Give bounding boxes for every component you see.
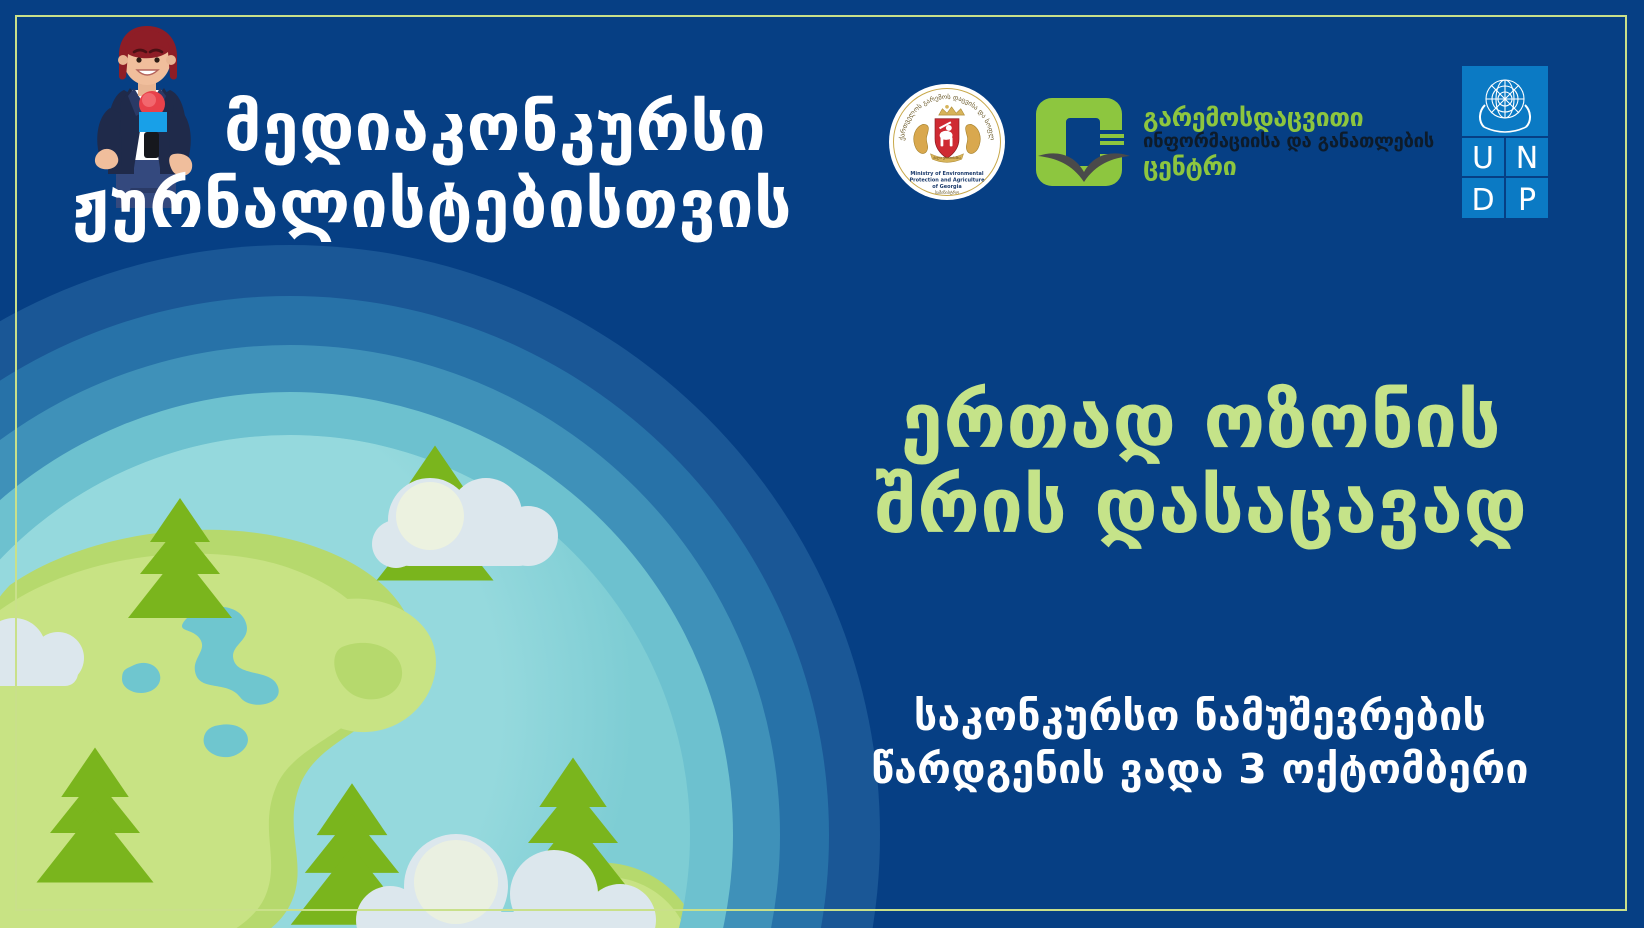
cloud-icon — [368, 474, 568, 570]
deadline-block: საკონკურსო ნამუშევრების წარდგენის ვადა 3… — [820, 690, 1580, 797]
undp-logo: U N D P — [1462, 66, 1548, 218]
message-line-2: შრის დასაცავად — [836, 463, 1566, 548]
pine-tree-icon — [32, 740, 158, 890]
ministry-caption-en-1: Ministry of Environmental — [910, 171, 983, 177]
pine-tree-icon — [124, 494, 236, 622]
undp-letter-n: N — [1516, 141, 1538, 176]
deadline-line-1: საკონკურსო ნამუშევრების — [820, 690, 1580, 743]
undp-letter-u: U — [1472, 141, 1494, 176]
eiec-logo-line-1: გარემოსდაცვითი — [1143, 105, 1434, 130]
title-line-1: მედიაკონკურსი — [224, 96, 832, 159]
cloud-icon — [338, 828, 668, 928]
ministry-caption-en-2: Protection and Agriculture — [909, 178, 985, 184]
title-line-2: ჟურნალისტებისთვის — [72, 173, 832, 236]
message-line-1: ერთად ოზონის — [836, 378, 1566, 463]
deadline-line-2: წარდგენის ვადა 3 ოქტომბერი — [820, 743, 1580, 796]
svg-text:ძალა ერთობაშია: ძალა ერთობაშია — [933, 156, 961, 160]
poster-title: მედიაკონკურსი ჟურნალისტებისთვის — [72, 96, 832, 237]
eiec-logo-line-3: ცენტრი — [1143, 154, 1434, 179]
eiec-book-mark-icon — [1034, 92, 1134, 192]
undp-letter-d: D — [1471, 183, 1494, 218]
cloud-icon — [0, 610, 106, 694]
main-message: ერთად ოზონის შრის დასაცავად — [836, 378, 1566, 548]
svg-text:სამინისტრო: სამინისტრო — [935, 190, 960, 195]
undp-letter-p: P — [1518, 183, 1536, 218]
eiec-logo-line-2: ინფორმაციისა და განათლების — [1143, 133, 1434, 152]
eiec-logo: გარემოსდაცვითი ინფორმაციისა და განათლები… — [1034, 92, 1434, 192]
ministry-emblem-logo: საქართველოს გარემოს დაცვისა და სოფლის — [888, 83, 1006, 201]
logo-row: საქართველოს გარემოს დაცვისა და სოფლის — [888, 62, 1548, 222]
poster-canvas: მედიაკონკურსი ჟურნალისტებისთვის საქართვე… — [0, 0, 1644, 928]
